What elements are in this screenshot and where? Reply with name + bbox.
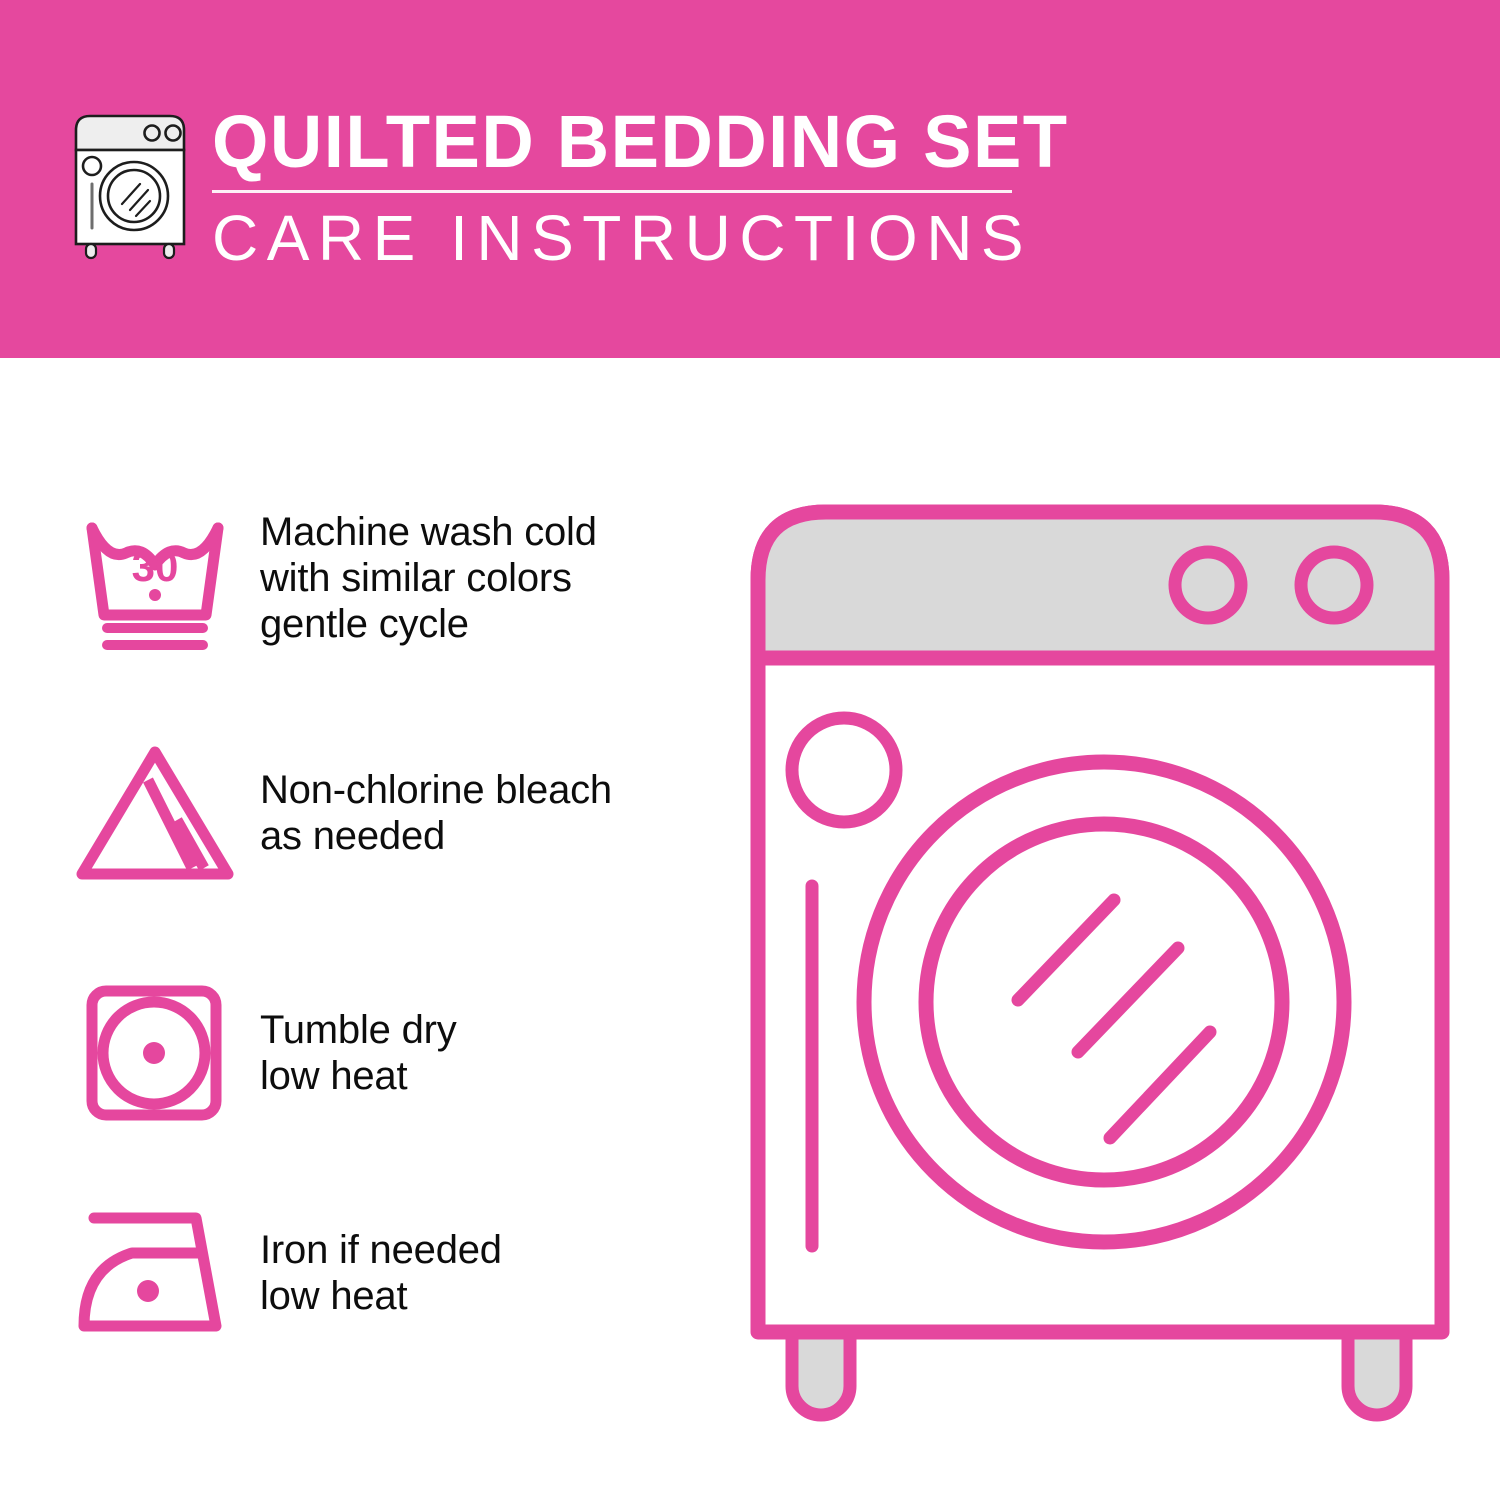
care-instruction-list: 30 Machine wash cold with similar colors…	[0, 358, 720, 1500]
page-title: QUILTED BEDDING SET	[212, 102, 1016, 182]
care-row-bleach: Non-chlorine bleach as needed	[70, 738, 710, 888]
care-row-wash: 30 Machine wash cold with similar colors…	[70, 503, 710, 653]
wash-temperature-value: 30	[132, 543, 179, 590]
washing-machine-logo-icon	[66, 108, 194, 260]
non-chlorine-bleach-triangle-icon	[70, 738, 240, 888]
care-instructions-page: QUILTED BEDDING SET CARE INSTRUCTIONS 30…	[0, 0, 1500, 1500]
title-divider	[212, 190, 1012, 193]
washing-machine-illustration	[740, 490, 1460, 1430]
care-text-iron: Iron if needed low heat	[240, 1227, 502, 1319]
care-text-bleach: Non-chlorine bleach as needed	[240, 767, 612, 859]
page-subtitle: CARE INSTRUCTIONS	[212, 203, 1032, 273]
care-text-wash: Machine wash cold with similar colors ge…	[240, 509, 597, 647]
header-banner: QUILTED BEDDING SET CARE INSTRUCTIONS	[0, 0, 1500, 358]
care-text-tumble-dry: Tumble dry low heat	[240, 1007, 457, 1099]
tumble-dry-low-heat-icon	[70, 978, 240, 1128]
machine-control-panel	[758, 512, 1442, 658]
machine-wash-tub-icon: 30	[70, 503, 240, 653]
care-row-tumble-dry: Tumble dry low heat	[70, 978, 710, 1128]
iron-low-heat-icon	[70, 1198, 240, 1348]
header-text-block: QUILTED BEDDING SET CARE INSTRUCTIONS	[212, 102, 1032, 273]
care-row-iron: Iron if needed low heat	[70, 1198, 710, 1348]
